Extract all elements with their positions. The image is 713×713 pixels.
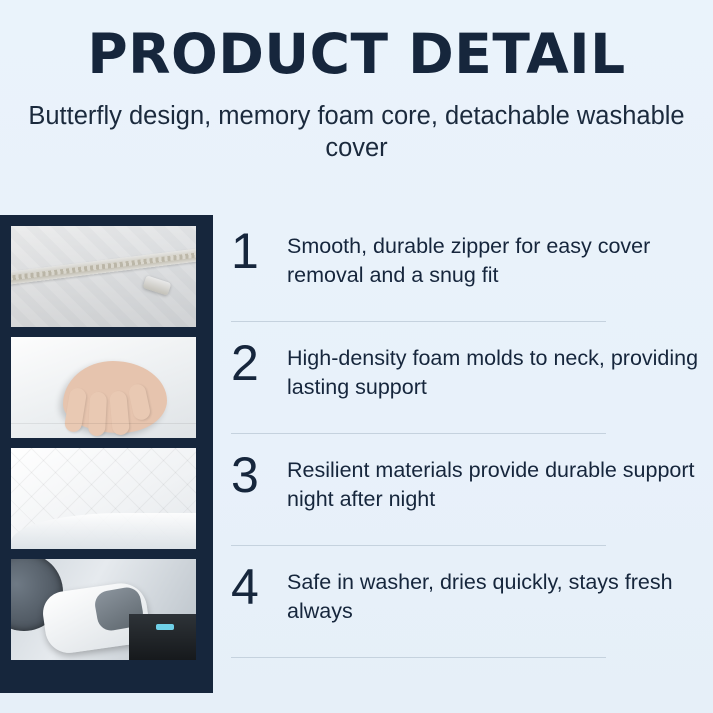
photo-hand-pressing-foam	[11, 337, 196, 438]
photo-pillow-in-washing-machine	[11, 559, 196, 660]
photo-quilted-fabric-closeup	[11, 448, 196, 549]
product-detail-page: PRODUCT DETAIL Butterfly design, memory …	[0, 0, 713, 713]
page-header: PRODUCT DETAIL Butterfly design, memory …	[0, 0, 713, 165]
feature-list: 1 Smooth, durable zipper for easy cover …	[231, 210, 713, 658]
foam-edge-line	[11, 423, 196, 424]
feature-text: Safe in washer, dries quickly, stays fre…	[287, 546, 713, 625]
washer-display-icon	[156, 624, 174, 630]
washer-control-panel	[129, 614, 196, 660]
photo-zipper-closeup	[11, 226, 196, 327]
feature-item: 4 Safe in washer, dries quickly, stays f…	[231, 546, 713, 658]
hand-finger-shape	[88, 391, 107, 436]
feature-item: 2 High-density foam molds to neck, provi…	[231, 322, 713, 434]
feature-item: 1 Smooth, durable zipper for easy cover …	[231, 210, 713, 322]
feature-item: 3 Resilient materials provide durable su…	[231, 434, 713, 546]
feature-number: 2	[231, 322, 287, 388]
content-area: 1 Smooth, durable zipper for easy cover …	[0, 210, 713, 713]
feature-number: 3	[231, 434, 287, 500]
feature-number: 1	[231, 210, 287, 276]
feature-number: 4	[231, 546, 287, 612]
photo-column	[0, 215, 213, 693]
photo-shading	[11, 226, 196, 327]
feature-text: Resilient materials provide durable supp…	[287, 434, 713, 513]
fabric-fold-shape	[11, 513, 196, 549]
feature-text: High-density foam molds to neck, providi…	[287, 322, 713, 401]
page-title: PRODUCT DETAIL	[0, 26, 713, 84]
feature-divider	[231, 657, 606, 658]
page-subtitle: Butterfly design, memory foam core, deta…	[27, 100, 687, 165]
feature-text: Smooth, durable zipper for easy cover re…	[287, 210, 713, 289]
